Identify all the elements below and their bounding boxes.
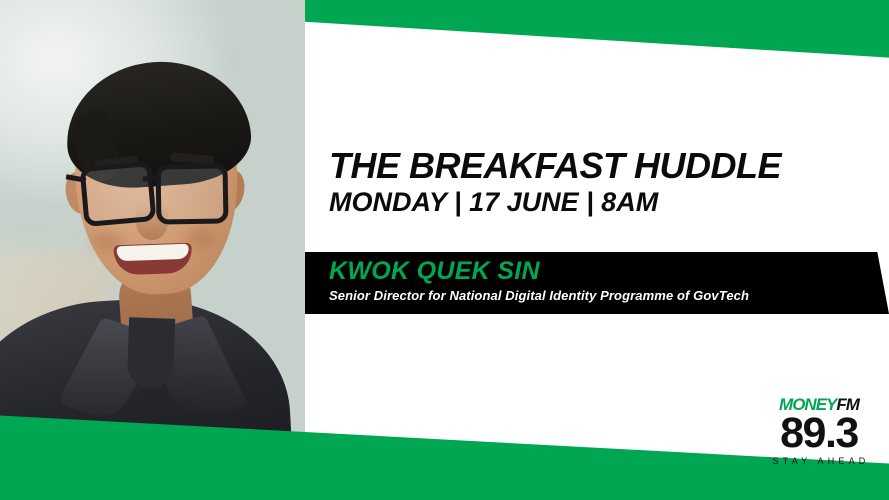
portrait-shirt-opening [127, 317, 175, 389]
portrait-teeth [117, 244, 189, 262]
promo-graphic: THE BREAKFAST HUDDLE MONDAY | 17 JUNE | … [0, 0, 889, 500]
guest-banner: KWOK QUEK SIN Senior Director for Nation… [305, 252, 889, 314]
logo-frequency: 89.3 [763, 414, 875, 454]
station-logo: MONEYFM 89.3 STAY AHEAD [763, 396, 875, 466]
guest-name: KWOK QUEK SIN [329, 257, 749, 286]
guest-banner-content: KWOK QUEK SIN Senior Director for Nation… [329, 257, 749, 303]
glasses-lens-left-icon [80, 161, 157, 227]
show-airtime: MONDAY | 17 JUNE | 8AM [329, 188, 869, 218]
show-title: THE BREAKFAST HUDDLE [329, 148, 869, 185]
guest-role: Senior Director for National Digital Ide… [329, 288, 749, 303]
logo-tagline: STAY AHEAD [763, 456, 875, 466]
headline-block: THE BREAKFAST HUDDLE MONDAY | 17 JUNE | … [329, 148, 869, 217]
glasses-lens-right-icon [155, 163, 228, 224]
